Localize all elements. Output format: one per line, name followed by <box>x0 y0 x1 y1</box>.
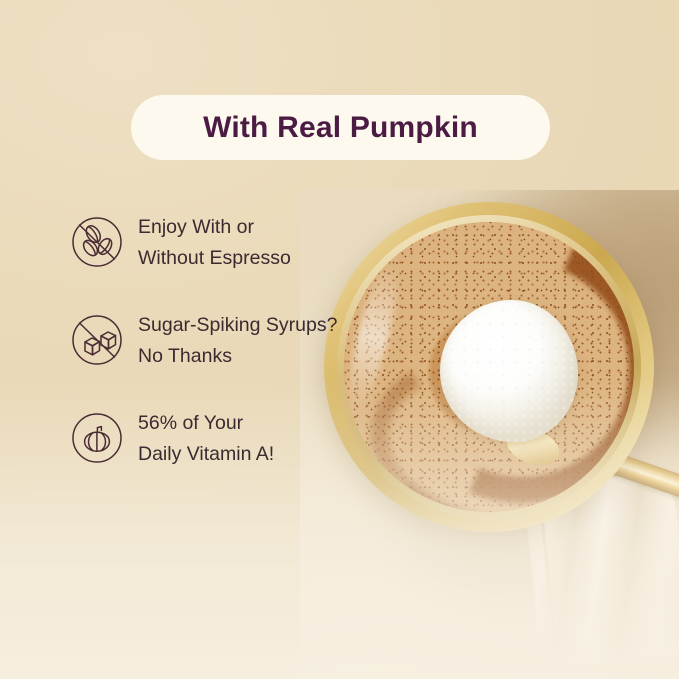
no-coffee-beans-icon <box>70 215 124 269</box>
page-title: With Real Pumpkin <box>203 111 478 145</box>
product-feature-card: With Real Pumpkin <box>0 0 679 679</box>
feature-line-1: Enjoy With or <box>138 216 254 238</box>
feature-text-sugar: Sugar-Spiking Syrups? No Thanks <box>138 310 337 372</box>
feature-item-espresso: Enjoy With or Without Espresso <box>70 212 400 310</box>
no-sugar-cubes-icon <box>70 313 124 367</box>
feature-text-espresso: Enjoy With or Without Espresso <box>138 212 291 274</box>
headline-pill: With Real Pumpkin <box>131 95 550 160</box>
feature-line-2: No Thanks <box>138 341 337 372</box>
feature-text-vitamin-a: 56% of Your Daily Vitamin A! <box>138 408 274 470</box>
pumpkin-icon <box>70 411 124 465</box>
feature-line-2: Without Espresso <box>138 243 291 274</box>
feature-item-vitamin-a: 56% of Your Daily Vitamin A! <box>70 408 400 506</box>
feature-line-1: Sugar-Spiking Syrups? <box>138 314 337 336</box>
feature-item-sugar: Sugar-Spiking Syrups? No Thanks <box>70 310 400 408</box>
feature-line-1: 56% of Your <box>138 412 243 434</box>
feature-line-2: Daily Vitamin A! <box>138 439 274 470</box>
feature-list: Enjoy With or Without Espresso <box>70 212 400 506</box>
